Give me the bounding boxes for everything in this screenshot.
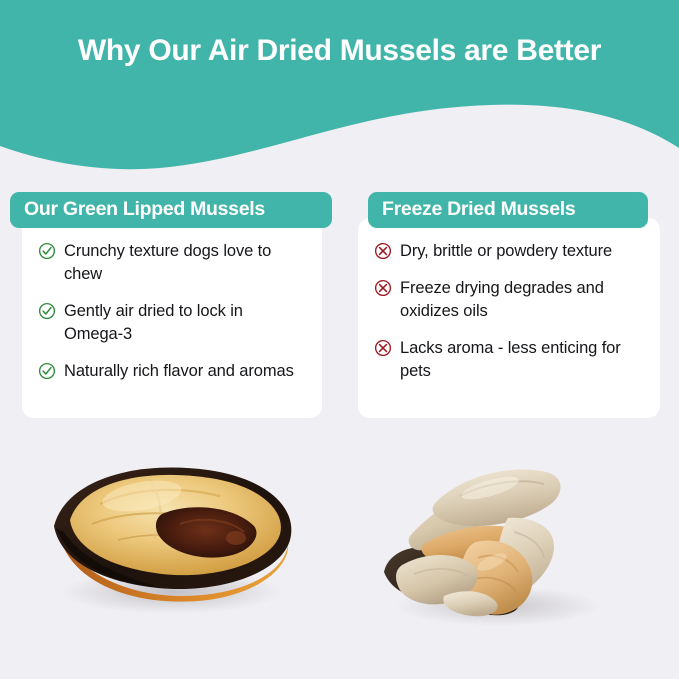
check-circle-icon — [38, 242, 56, 260]
column-header-left: Our Green Lipped Mussels — [10, 192, 332, 228]
teal-wave-shape — [0, 0, 679, 180]
list-item: Naturally rich flavor and aromas — [38, 360, 306, 383]
list-item: Crunchy texture dogs love to chew — [38, 240, 306, 286]
check-circle-icon — [38, 362, 56, 380]
cross-circle-icon — [374, 339, 392, 357]
column-our-green-lipped-mussels: Our Green Lipped Mussels Crunchy texture… — [22, 192, 322, 418]
benefits-card-left: Crunchy texture dogs love to chew Gently… — [22, 218, 322, 418]
list-item-label: Lacks aroma - less enticing for pets — [400, 337, 644, 383]
check-circle-icon — [38, 302, 56, 320]
list-item: Freeze drying degrades and oxidizes oils — [374, 277, 644, 323]
list-item: Gently air dried to lock in Omega-3 — [38, 300, 306, 346]
cross-circle-icon — [374, 279, 392, 297]
air-dried-mussel-photo — [22, 440, 322, 670]
column-header-right: Freeze Dried Mussels — [368, 192, 648, 228]
list-item-label: Naturally rich flavor and aromas — [64, 360, 294, 383]
list-item: Dry, brittle or powdery texture — [374, 240, 644, 263]
list-item: Lacks aroma - less enticing for pets — [374, 337, 644, 383]
list-item-label: Gently air dried to lock in Omega-3 — [64, 300, 306, 346]
hero-banner: Why Our Air Dried Mussels are Better — [0, 0, 679, 180]
list-item-label: Freeze drying degrades and oxidizes oils — [400, 277, 644, 323]
comparison-columns: Our Green Lipped Mussels Crunchy texture… — [0, 192, 679, 432]
page-title: Why Our Air Dried Mussels are Better — [0, 30, 679, 72]
freeze-dried-mussels-photo — [358, 440, 660, 670]
list-item-label: Dry, brittle or powdery texture — [400, 240, 612, 263]
list-item-label: Crunchy texture dogs love to chew — [64, 240, 306, 286]
cross-circle-icon — [374, 242, 392, 260]
product-photos — [0, 440, 679, 679]
drawbacks-card-right: Dry, brittle or powdery texture Freeze d… — [358, 218, 660, 418]
column-freeze-dried-mussels: Freeze Dried Mussels Dry, brittle or pow… — [358, 192, 660, 418]
